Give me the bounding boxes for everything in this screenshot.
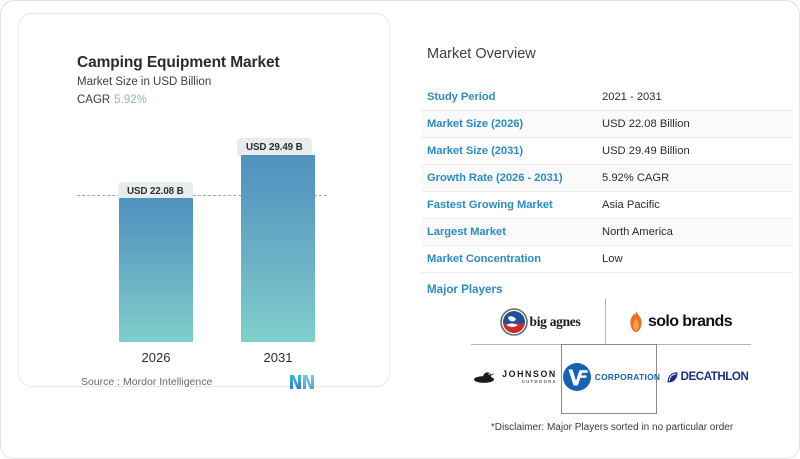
player-logo-decathlon: DECATHLON [663,357,751,397]
row-key: Study Period [427,91,602,103]
row-value: Low [602,253,623,265]
player-label-johnson-outdoors: JOHNSON [502,370,557,379]
market-overview-panel: Market Overview Study Period 2021 - 2031… [409,1,800,459]
player-label-decathlon: DECATHLON [681,371,749,383]
table-row: Market Size (2031) USD 29.49 Billion [421,138,793,165]
bar-chart-plot-area: USD 22.08 B USD 29.49 B 2026 2031 [19,14,391,388]
overview-table: Study Period 2021 - 2031 Market Size (20… [421,84,793,273]
x-axis-label-2031: 2031 [241,350,315,365]
row-value: Asia Pacific [602,199,660,211]
grid-divider-horizontal-right [657,344,751,345]
bar-2026 [119,198,193,342]
mordor-intelligence-logo [289,374,315,390]
row-value: 2021 - 2031 [602,91,662,103]
row-key: Fastest Growing Market [427,199,602,211]
x-axis-label-2026: 2026 [119,350,193,365]
grid-divider-horizontal-left [471,344,561,345]
row-key: Market Size (2031) [427,145,602,157]
player-logo-solo-brands: solo brands [609,303,751,341]
market-snapshot-page: Camping Equipment Market Market Size in … [0,0,800,459]
player-logo-vf-corporation: CORPORATION [563,357,659,397]
row-value: USD 22.08 Billion [602,118,690,130]
table-row: Fastest Growing Market Asia Pacific [421,192,793,219]
row-key: Largest Market [427,226,602,238]
grid-divider-vertical-top [605,299,606,344]
table-row: Study Period 2021 - 2031 [421,84,793,111]
player-label-vf-corporation: CORPORATION [595,372,661,382]
player-label-solo-brands: solo brands [648,313,732,331]
table-row: Market Concentration Low [421,246,793,273]
player-sublabel-outdoors: OUTDOORS [502,380,557,384]
player-logo-johnson-outdoors: JOHNSON OUTDOORS [471,357,559,397]
players-disclaimer: *Disclaimer: Major Players sorted in no … [427,422,797,433]
row-value: North America [602,226,673,238]
overview-title: Market Overview [427,46,536,62]
source-label: Source : Mordor Intelligence [81,376,212,388]
row-value: 5.92% CAGR [602,172,669,184]
table-row: Market Size (2026) USD 22.08 Billion [421,111,793,138]
major-players-title: Major Players [427,283,502,296]
player-logo-big-agnes: big agnes [477,303,603,341]
player-label-big-agnes: big agnes [530,314,581,330]
chart-card: Camping Equipment Market Market Size in … [18,13,390,387]
table-row: Growth Rate (2026 - 2031) 5.92% CAGR [421,165,793,192]
table-row: Largest Market North America [421,219,793,246]
row-key: Market Concentration [427,253,602,265]
row-value: USD 29.49 Billion [602,145,690,157]
row-key: Growth Rate (2026 - 2031) [427,172,602,184]
bar-2031 [241,155,315,342]
major-players-grid: big agnes solo brands JOHNS [471,299,751,401]
row-key: Market Size (2026) [427,118,602,130]
